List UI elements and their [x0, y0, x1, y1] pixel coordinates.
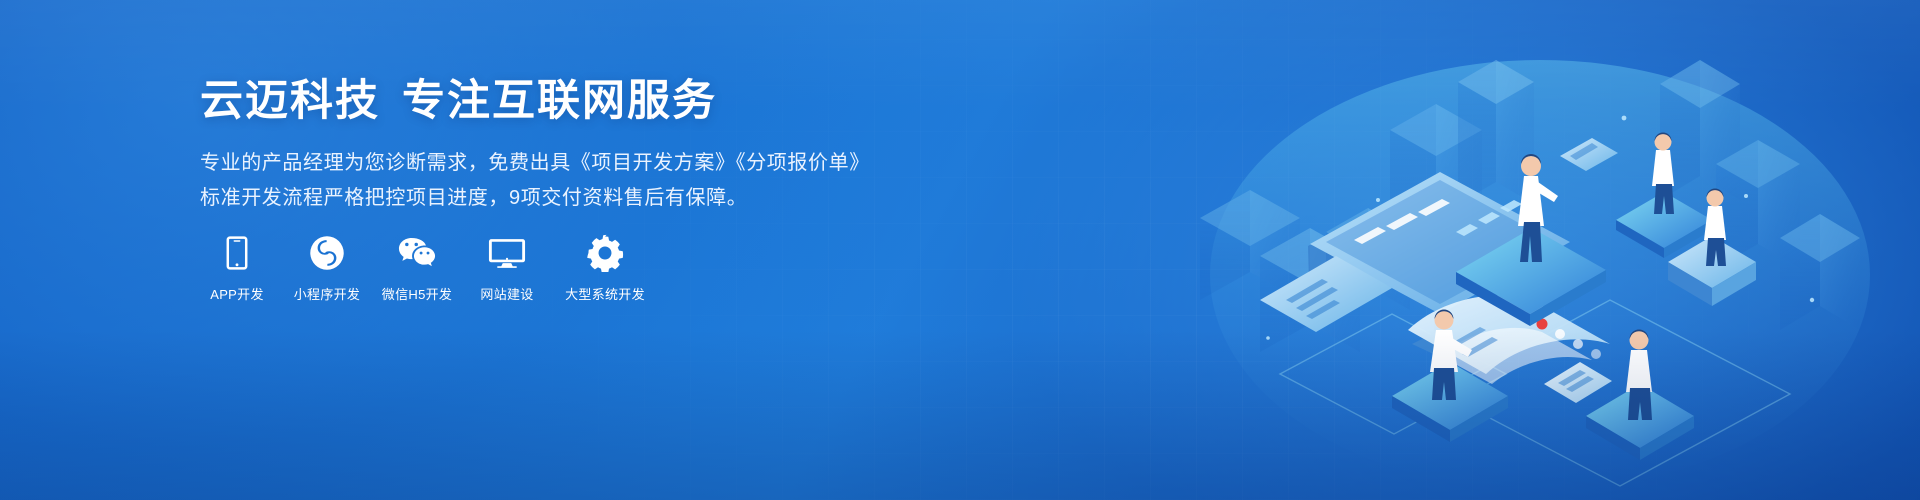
- service-item-website[interactable]: 网站建设: [470, 232, 544, 303]
- service-label: 小程序开发: [294, 287, 361, 303]
- service-label: 微信H5开发: [382, 287, 452, 303]
- monitor-icon: [486, 232, 528, 274]
- hero-banner: 云迈科技专注互联网服务 专业的产品经理为您诊断需求，免费出具《项目开发方案》《分…: [0, 0, 1920, 500]
- mini-program-icon: [308, 232, 346, 274]
- service-label: APP开发: [210, 287, 264, 303]
- service-label: 网站建设: [480, 287, 533, 303]
- wechat-icon: [396, 232, 438, 274]
- service-item-large-system[interactable]: 大型系统开发: [560, 232, 650, 303]
- hero-copy-block: 云迈科技专注互联网服务 专业的产品经理为您诊断需求，免费出具《项目开发方案》《分…: [200, 72, 960, 216]
- service-item-app[interactable]: APP开发: [200, 232, 274, 303]
- headline-brand: 云迈科技: [200, 77, 380, 125]
- isometric-team-dashboard-illustration: [1140, 0, 1920, 500]
- headline-tagline: 专注互联网服务: [402, 77, 717, 125]
- page-title: 云迈科技专注互联网服务: [200, 72, 960, 130]
- service-label: 大型系统开发: [565, 287, 645, 303]
- service-item-wechat-h5[interactable]: 微信H5开发: [380, 232, 454, 303]
- service-icon-list: APP开发 小程序开发 微信H5开发: [200, 232, 650, 303]
- service-item-mini-program[interactable]: 小程序开发: [290, 232, 364, 303]
- mobile-phone-icon: [218, 232, 256, 274]
- hero-subtitle-line-1: 专业的产品经理为您诊断需求，免费出具《项目开发方案》《分项报价单》: [200, 146, 960, 181]
- hero-subtitle-line-2: 标准开发流程严格把控项目进度，9项交付资料售后有保障。: [200, 181, 960, 216]
- gear-icon: [586, 232, 624, 274]
